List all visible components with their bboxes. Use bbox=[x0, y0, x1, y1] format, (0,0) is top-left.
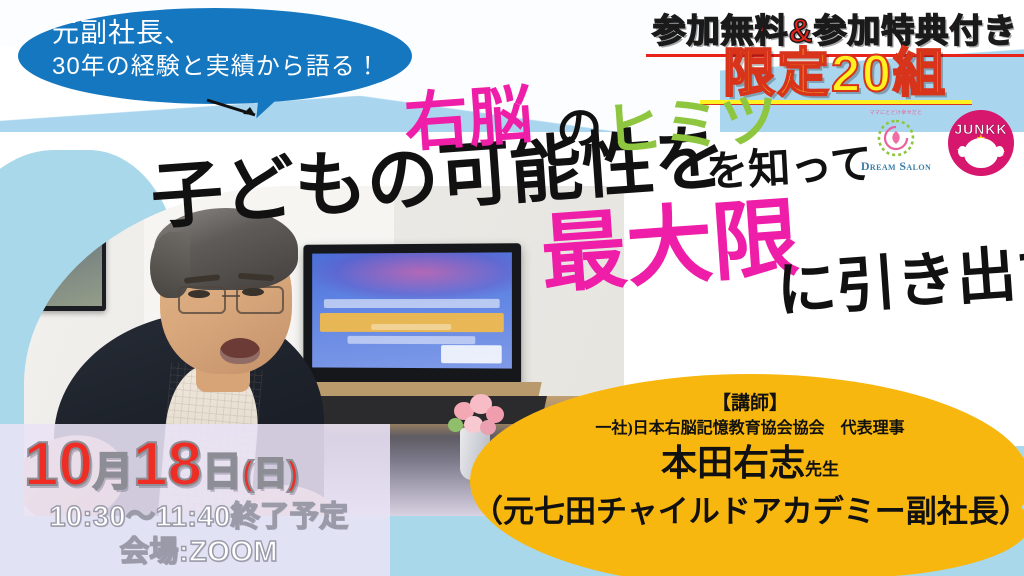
limited-slots-underline bbox=[700, 100, 972, 104]
event-date-month-kanji: 月 bbox=[93, 450, 133, 494]
speaker-organization: 一社)日本右脳記憶教育協会協会 代表理事 bbox=[476, 416, 1024, 441]
photo-flower-leaf bbox=[448, 418, 463, 432]
intro-speech-bubble-text: 元副社長、 30年の経験と実績から語る！ bbox=[52, 16, 402, 84]
photo-man-mouth bbox=[220, 338, 260, 364]
event-date-month-number: 10 bbox=[24, 430, 93, 499]
speaker-info: 【講師】 一社)日本右脳記憶教育協会協会 代表理事 本田右志先生 （元七田チャイ… bbox=[476, 392, 1024, 532]
dream-salon-name: Dream Salon bbox=[848, 159, 944, 174]
photo-slide-line-4 bbox=[371, 324, 451, 330]
event-date-weekday: (日) bbox=[242, 455, 299, 493]
speaker-name-suffix: 先生 bbox=[805, 460, 839, 479]
dream-salon-ring-icon bbox=[867, 118, 925, 158]
photo-monitor-glow bbox=[312, 252, 512, 301]
speaker-previous-role: （元七田チャイルドアカデミー副社長） bbox=[472, 492, 1024, 532]
junkk-baby-face bbox=[964, 138, 998, 168]
seminar-banner: 元副社長、 30年の経験と実績から語る！ 参加無料&参加特典付き 限定20組 マ… bbox=[0, 0, 1024, 576]
photo-slide-line-1 bbox=[324, 299, 500, 308]
event-date-day-number: 18 bbox=[133, 430, 202, 499]
limited-slots-text: 限定20組 bbox=[646, 47, 1024, 101]
event-venue: 会場:ZOOM bbox=[24, 535, 374, 570]
speaker-label: 【講師】 bbox=[476, 392, 1024, 416]
event-time-venue: 10:30〜11:40終了予定 会場:ZOOM bbox=[24, 500, 374, 570]
speaker-name: 本田右志先生 bbox=[476, 441, 1024, 492]
speaker-name-text: 本田右志 bbox=[661, 443, 805, 483]
intro-speech-bubble-tail bbox=[256, 85, 289, 122]
photo-monitor bbox=[303, 243, 521, 385]
event-date: 10月18日(日) bbox=[24, 432, 374, 507]
intro-line-2: 30年の経験と実績から語る！ bbox=[52, 50, 402, 84]
event-date-day-kanji: 日 bbox=[202, 450, 242, 494]
junkk-logo: JUNKK ★ ★ ★ bbox=[948, 110, 1014, 176]
photo-wall-tv bbox=[34, 216, 106, 311]
event-time: 10:30〜11:40終了予定 bbox=[24, 500, 374, 535]
intro-line-1: 元副社長、 bbox=[52, 16, 402, 50]
dream-salon-logo: ママにとどけ幸せだと Dream Salon bbox=[848, 110, 944, 176]
photo-monitor-screen bbox=[312, 252, 512, 368]
pointer-arrow-icon bbox=[205, 98, 261, 118]
photo-wall-tv-screen bbox=[38, 221, 102, 306]
photo-man-glasses bbox=[178, 286, 284, 310]
photo-slide-line-3 bbox=[348, 336, 476, 344]
dream-salon-tagline: ママにとどけ幸せだと bbox=[848, 110, 944, 117]
photo-slide-logo bbox=[441, 346, 502, 364]
